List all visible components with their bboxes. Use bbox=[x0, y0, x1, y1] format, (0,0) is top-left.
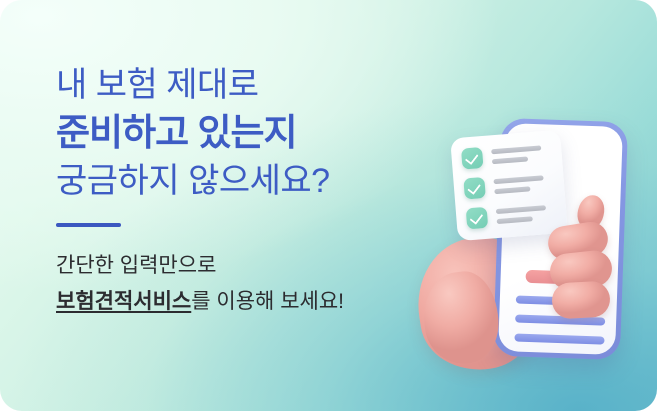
text-line-long bbox=[493, 175, 543, 184]
subtext-line-2: 보험견적서비스를 이용해 보세요! bbox=[56, 287, 446, 317]
text-line-short bbox=[494, 186, 530, 194]
checklist-text-lines bbox=[496, 205, 547, 224]
divider-rule bbox=[56, 223, 121, 227]
text-line-short bbox=[497, 216, 533, 224]
finger-3 bbox=[551, 281, 611, 320]
text-line-short bbox=[492, 156, 528, 164]
check-icon bbox=[461, 147, 484, 170]
checklist-card bbox=[450, 130, 568, 241]
check-icon bbox=[463, 177, 486, 200]
subtext-line-1: 간단한 입력만으로 bbox=[56, 251, 446, 281]
blue-line-3 bbox=[514, 333, 604, 344]
text-line-long bbox=[496, 205, 546, 214]
text-line-long bbox=[491, 145, 541, 154]
subtext-line-2-rest: 를 이용해 보세요! bbox=[191, 290, 344, 313]
checklist-text-lines bbox=[493, 175, 544, 194]
promo-banner[interactable]: 내 보험 제대로 준비하고 있는지 궁금하지 않으세요? 간단한 입력만으로 보… bbox=[0, 0, 657, 411]
hand-holding-phone-illustration bbox=[404, 96, 657, 411]
headline-line-1: 내 보험 제대로 bbox=[56, 62, 446, 108]
headline-line-3: 궁금하지 않으세요? bbox=[56, 157, 446, 205]
headline-line-2: 준비하고 있는지 bbox=[56, 108, 446, 157]
check-icon bbox=[466, 207, 489, 230]
checklist-row bbox=[466, 202, 547, 229]
banner-copy: 내 보험 제대로 준비하고 있는지 궁금하지 않으세요? 간단한 입력만으로 보… bbox=[56, 62, 446, 317]
service-name-link[interactable]: 보험견적서비스 bbox=[56, 290, 191, 313]
checklist-text-lines bbox=[491, 145, 542, 164]
checklist-row bbox=[461, 142, 542, 169]
banner-subtext: 간단한 입력만으로 보험견적서비스를 이용해 보세요! bbox=[56, 251, 446, 317]
checklist-row bbox=[463, 172, 544, 199]
